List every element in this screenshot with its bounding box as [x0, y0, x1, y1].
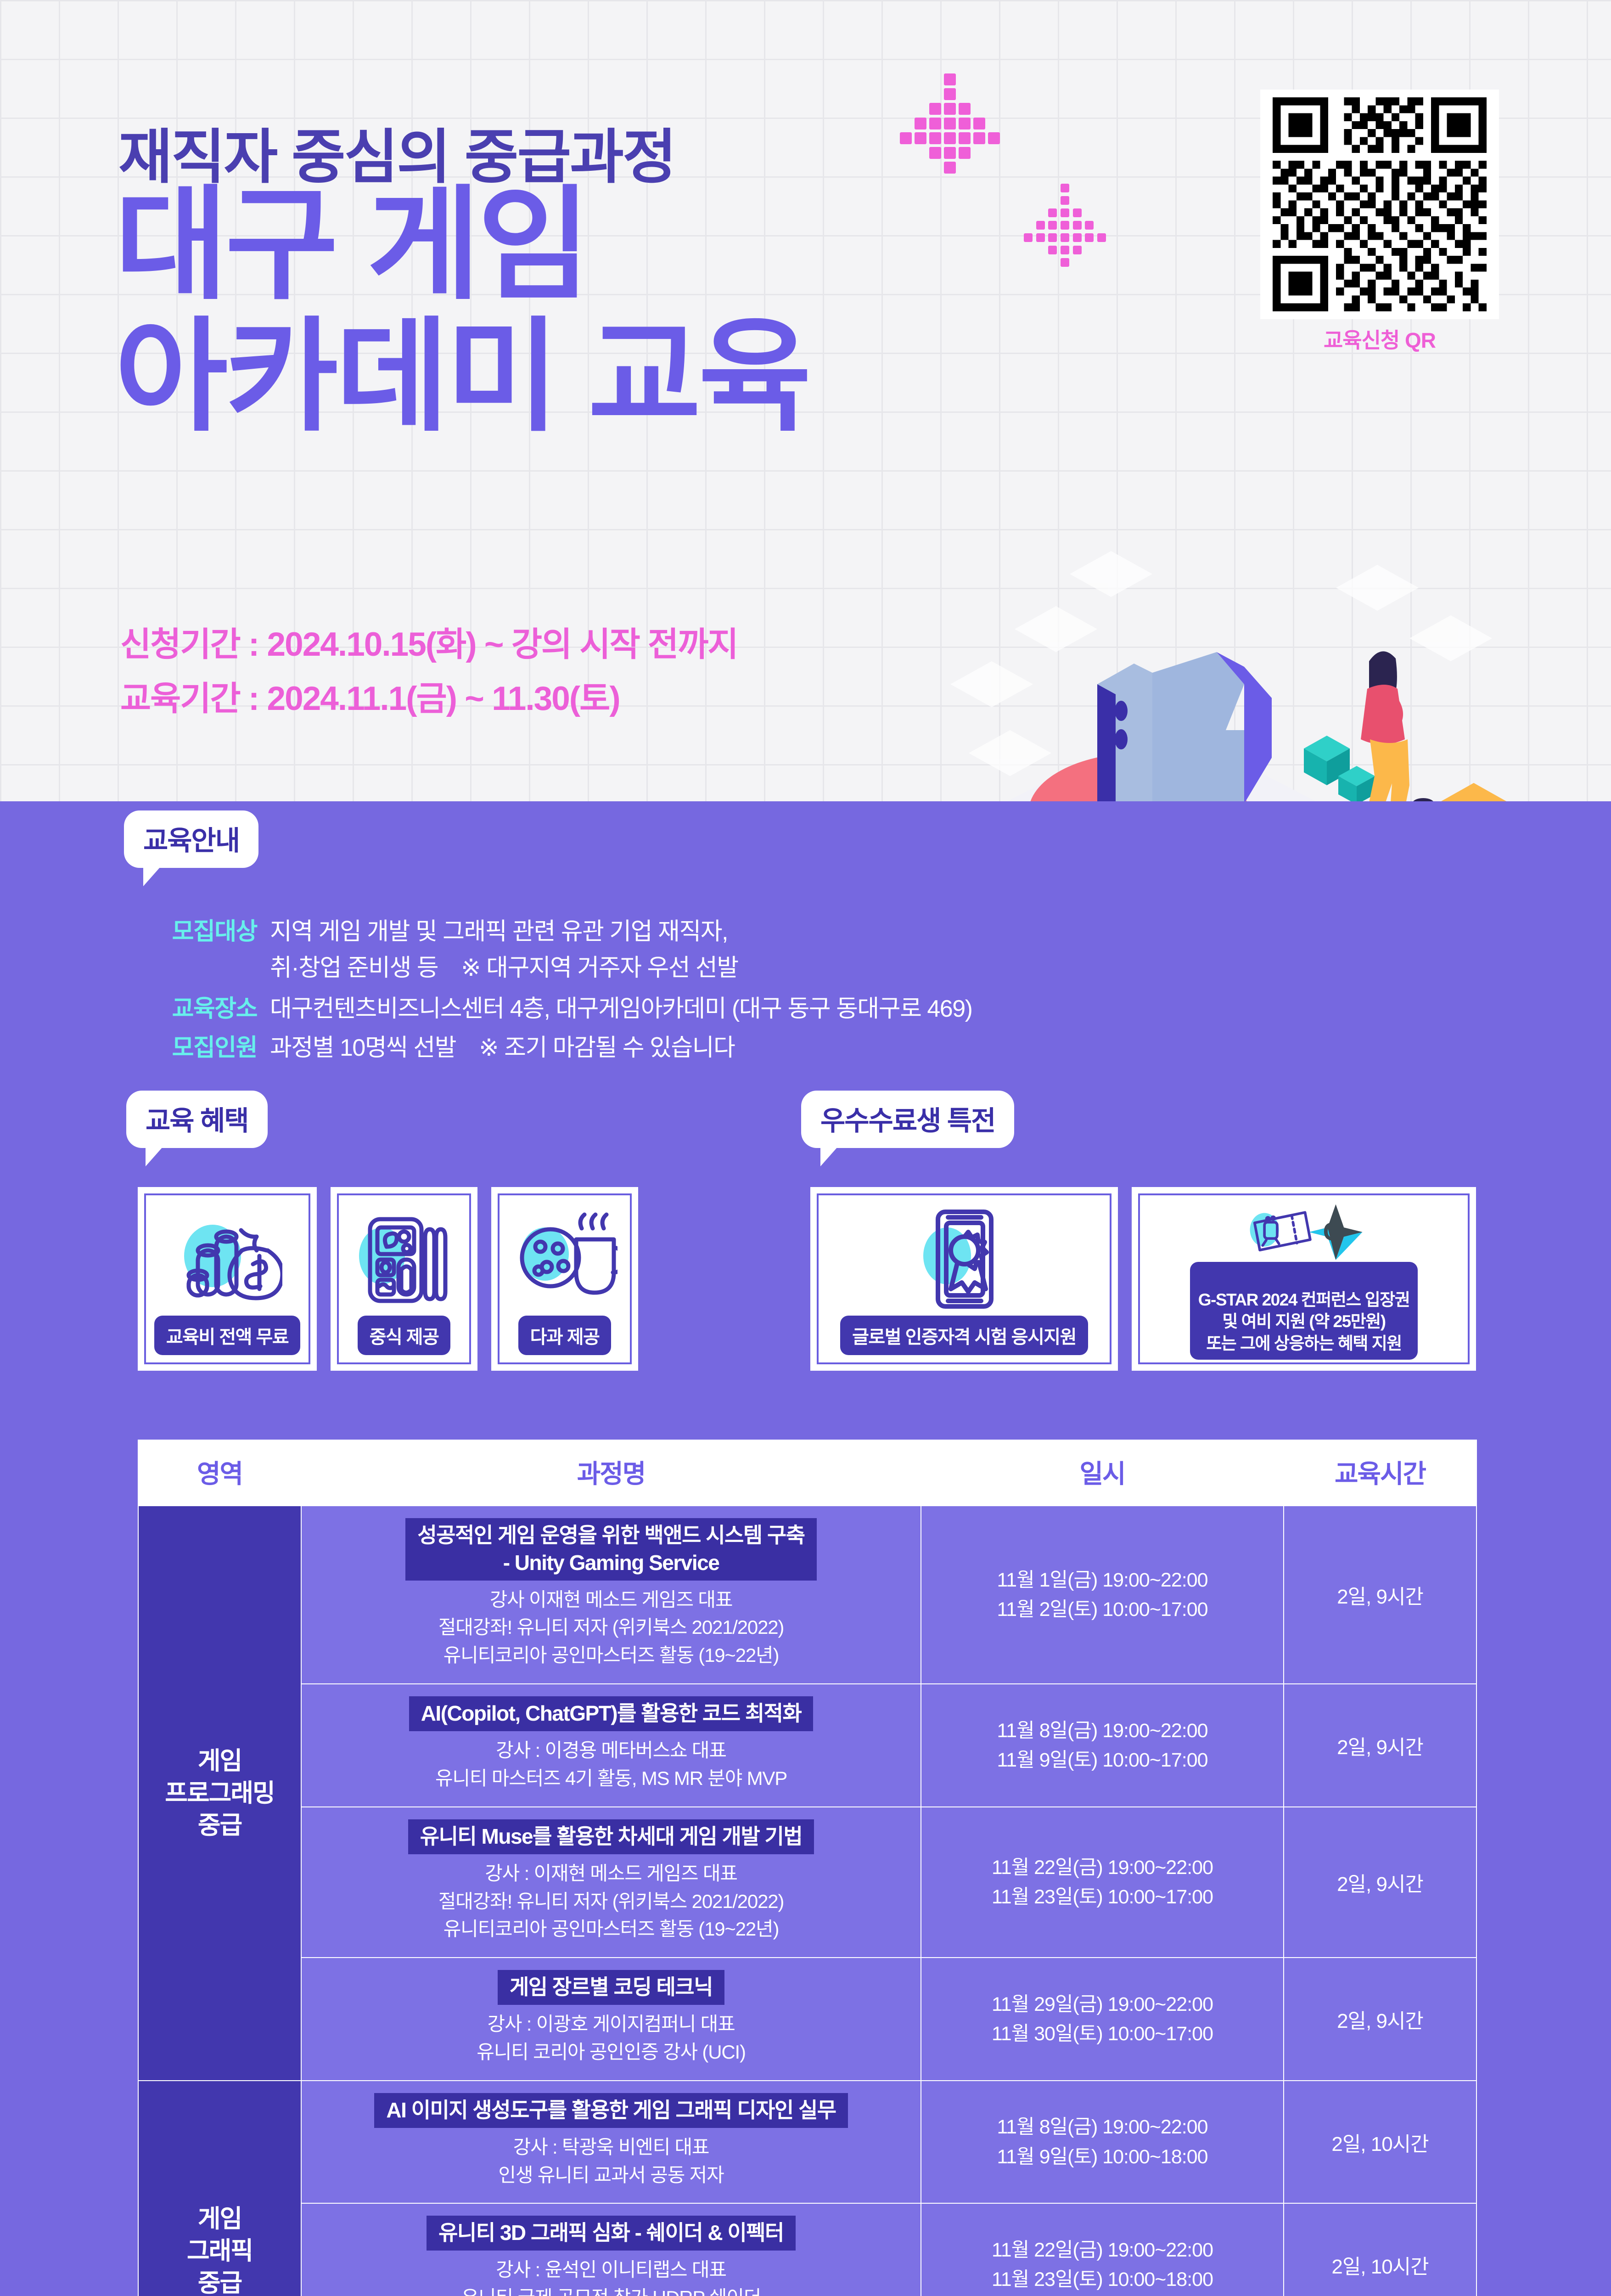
guide-row-value: 대구컨텐츠비즈니스센터 4층, 대구게임아카데미 (대구 동구 동대구로 469… — [270, 991, 972, 1027]
benefit-card-label: 중식 제공 — [358, 1316, 451, 1355]
guide-row-note: ※ 대구지역 거주자 우선 선발 — [461, 955, 738, 981]
guide-row: 모집대상 지역 게임 개발 및 그래픽 관련 유관 기업 재직자, 취·창업 준… — [133, 914, 1373, 986]
dot-plus-decoration-small — [1024, 184, 1111, 271]
benefit-card-refreshments[interactable]: 다과 제공 — [491, 1187, 638, 1371]
benefit-card-label: 교육비 전액 무료 — [154, 1316, 300, 1355]
course-sub: 유니티 코리아 공인인증 강사 (UCI) — [310, 2038, 912, 2066]
apply-period: 신청기간 : 2024.10.15(화) ~ 강의 시작 전까지 — [120, 618, 738, 672]
guide-tag: 교육안내 — [124, 810, 258, 868]
dot-plus-decoration-large — [900, 73, 1005, 179]
table-row: 유니티 Muse를 활용한 차세대 게임 개발 기법 강사 : 이재현 메소드 … — [138, 1807, 1476, 1958]
table-cell-course: AI 이미지 생성도구를 활용한 게임 그래픽 디자인 실무 강사 : 탁광욱 … — [301, 2081, 921, 2204]
table-header-area: 영역 — [138, 1440, 301, 1506]
course-sub: 인생 유니티 교과서 공동 저자 — [310, 2161, 912, 2189]
table-row: 게임 프로그래밍 중급 성공적인 게임 운영을 위한 백앤드 시스템 구축 - … — [138, 1506, 1476, 1684]
period-block: 신청기간 : 2024.10.15(화) ~ 강의 시작 전까지 교육기간 : … — [120, 618, 738, 726]
course-sub: 강사 : 이재현 메소드 게임즈 대표 — [310, 1860, 912, 1888]
course-sub: 절대강좌! 유니티 저자 (위키북스 2021/2022) — [310, 1888, 912, 1916]
special-card-label: 글로벌 인증자격 시험 응시지원 — [840, 1316, 1088, 1355]
table-header-row: 영역 과정명 일시 교육시간 — [138, 1440, 1476, 1506]
money-bag-icon — [172, 1201, 282, 1316]
table-cell-course: 유니티 Muse를 활용한 차세대 게임 개발 기법 강사 : 이재현 메소드 … — [301, 1807, 921, 1958]
table-row: 유니티 3D 그래픽 심화 - 쉐이더 & 이펙터 강사 : 윤석인 이니티랩스… — [138, 2203, 1476, 2296]
special-card-certification[interactable]: 글로벌 인증자격 시험 응시지원 — [810, 1187, 1118, 1371]
course-sub: 강사 : 탁광욱 비엔티 대표 — [310, 2133, 912, 2161]
guide-info-block: 모집대상 지역 게임 개발 및 그래픽 관련 유관 기업 재직자, 취·창업 준… — [133, 914, 1373, 1066]
course-sub: 강사 : 이광호 게이지컴퍼니 대표 — [310, 2010, 912, 2038]
qr-caption: 교육신청 QR — [1260, 324, 1499, 354]
guide-row: 교육장소 대구컨텐츠비즈니스센터 4층, 대구게임아카데미 (대구 동구 동대구… — [133, 991, 1373, 1027]
course-title: AI 이미지 생성도구를 활용한 게임 그래픽 디자인 실무 — [374, 2093, 848, 2128]
benefit-card-tuition[interactable]: 교육비 전액 무료 — [138, 1187, 317, 1371]
course-sub: 강사 : 윤석인 이니티랩스 대표 — [310, 2256, 912, 2284]
course-title: 게임 장르별 코딩 테크닉 — [498, 1970, 724, 2005]
course-title: 유니티 3D 그래픽 심화 - 쉐이더 & 이펙터 — [427, 2216, 796, 2251]
table-header-date: 일시 — [921, 1440, 1284, 1506]
table-cell-date: 11월 8일(금) 19:00~22:00 11월 9일(토) 10:00~17… — [921, 1684, 1284, 1807]
table-cell-course: AI(Copilot, ChatGPT)를 활용한 코드 최적화 강사 : 이경… — [301, 1684, 921, 1807]
certificate-icon — [911, 1201, 1017, 1316]
course-title: 성공적인 게임 운영을 위한 백앤드 시스템 구축 - Unity Gaming… — [405, 1518, 816, 1581]
schedule-table: 영역 과정명 일시 교육시간 게임 프로그래밍 중급 성공적인 게임 운영을 위… — [138, 1440, 1477, 2296]
course-sub: 절대강좌! 유니티 저자 (위키북스 2021/2022) — [310, 1614, 912, 1642]
lunch-box-icon — [354, 1201, 455, 1316]
table-header-course: 과정명 — [301, 1440, 921, 1506]
table-cell-course: 유니티 3D 그래픽 심화 - 쉐이더 & 이펙터 강사 : 윤석인 이니티랩스… — [301, 2203, 921, 2296]
title-line-2: 아카데미 교육 — [115, 311, 809, 443]
poster-header: 재직자 중심의 중급과정 대구 게임 아카데미 교육 신청기간 : 2024.1… — [0, 0, 1611, 801]
guide-row-value-line2: 취·창업 준비생 등※ 대구지역 거주자 우선 선발 — [270, 950, 738, 986]
table-cell-hours: 2일, 9시간 — [1284, 1684, 1476, 1807]
course-sub: 강사 : 이경용 메타버스쇼 대표 — [310, 1737, 912, 1765]
course-title: 유니티 Muse를 활용한 차세대 게임 개발 기법 — [408, 1819, 814, 1854]
guide-row-value: 과정별 10명씩 선발※ 조기 마감될 수 있습니다 — [270, 1030, 735, 1066]
table-cell-date: 11월 8일(금) 19:00~22:00 11월 9일(토) 10:00~18… — [921, 2081, 1284, 2204]
table-cell-hours: 2일, 10시간 — [1284, 2081, 1476, 2204]
cookie-coffee-icon — [512, 1201, 617, 1316]
special-card-label: G-STAR 2024 컨퍼런스 입장권 및 여비 지원 (약 25만원) 또는… — [1190, 1262, 1418, 1360]
course-sub: 유니티 마스터즈 4기 활동, MS MR 분야 MVP — [310, 1765, 912, 1793]
course-title: AI(Copilot, ChatGPT)를 활용한 코드 최적화 — [409, 1696, 814, 1731]
course-sub: 유니티 국제 공모전 참가 HDRP 쉐이더 — [310, 2284, 912, 2296]
qr-code-image[interactable] — [1260, 90, 1499, 319]
table-cell-date: 11월 22일(금) 19:00~22:00 11월 23일(토) 10:00~… — [921, 2203, 1284, 2296]
guide-row-note: ※ 조기 마감될 수 있습니다 — [479, 1035, 735, 1061]
table-cell-hours: 2일, 9시간 — [1284, 1807, 1476, 1958]
table-cell-hours: 2일, 10시간 — [1284, 2203, 1476, 2296]
page-title: 대구 게임 아카데미 교육 — [115, 179, 809, 443]
svg-text:G: G — [1323, 1217, 1343, 1246]
poster-body: 교육안내 모집대상 지역 게임 개발 및 그래픽 관련 유관 기업 재직자, 취… — [0, 801, 1611, 2296]
guide-row-key: 모집인원 — [133, 1030, 257, 1066]
benefits-tag: 교육 혜택 — [126, 1091, 268, 1148]
table-cell-area: 게임 그래픽 중급 — [138, 2081, 301, 2296]
title-line-1: 대구 게임 — [115, 176, 588, 314]
table-row: 게임 그래픽 중급 AI 이미지 생성도구를 활용한 게임 그래픽 디자인 실무… — [138, 2081, 1476, 2204]
qr-section: 교육신청 QR — [1260, 90, 1499, 354]
table-cell-course: 게임 장르별 코딩 테크닉 강사 : 이광호 게이지컴퍼니 대표 유니티 코리아… — [301, 1958, 921, 2081]
edu-period: 교육기간 : 2024.11.1(금) ~ 11.30(토) — [120, 672, 738, 726]
special-tag: 우수수료생 특전 — [801, 1091, 1014, 1148]
table-header-hours: 교육시간 — [1284, 1440, 1476, 1506]
table-cell-area: 게임 프로그래밍 중급 — [138, 1506, 301, 2081]
guide-row-value-line1: 지역 게임 개발 및 그래픽 관련 유관 기업 재직자, — [270, 918, 728, 945]
guide-row: 모집인원 과정별 10명씩 선발※ 조기 마감될 수 있습니다 — [133, 1030, 1373, 1066]
table-cell-hours: 2일, 9시간 — [1284, 1506, 1476, 1684]
benefit-card-lunch[interactable]: 중식 제공 — [331, 1187, 477, 1371]
table-cell-date: 11월 1일(금) 19:00~22:00 11월 2일(토) 10:00~17… — [921, 1506, 1284, 1684]
table-cell-hours: 2일, 9시간 — [1284, 1958, 1476, 2081]
special-card-gstar[interactable]: G G-STAR 2024 컨퍼런스 입장권 및 여비 지원 (약 25만원) … — [1132, 1187, 1476, 1371]
table-cell-course: 성공적인 게임 운영을 위한 백앤드 시스템 구축 - Unity Gaming… — [301, 1506, 921, 1684]
guide-row-value: 지역 게임 개발 및 그래픽 관련 유관 기업 재직자, 취·창업 준비생 등※… — [270, 914, 738, 986]
gstar-ticket-icon: G — [1207, 1201, 1400, 1262]
hero-illustration — [923, 546, 1520, 801]
table-cell-date: 11월 22일(금) 19:00~22:00 11월 23일(토) 10:00~… — [921, 1807, 1284, 1958]
benefit-card-label: 다과 제공 — [518, 1316, 612, 1355]
guide-row-key: 교육장소 — [133, 991, 257, 1027]
guide-row-key: 모집대상 — [133, 914, 257, 950]
course-sub: 강사 이재현 메소드 게임즈 대표 — [310, 1586, 912, 1614]
course-sub: 유니티코리아 공인마스터즈 활동 (19~22년) — [310, 1642, 912, 1670]
table-row: 게임 장르별 코딩 테크닉 강사 : 이광호 게이지컴퍼니 대표 유니티 코리아… — [138, 1958, 1476, 2081]
table-row: AI(Copilot, ChatGPT)를 활용한 코드 최적화 강사 : 이경… — [138, 1684, 1476, 1807]
table-cell-date: 11월 29일(금) 19:00~22:00 11월 30일(토) 10:00~… — [921, 1958, 1284, 2081]
course-sub: 유니티코리아 공인마스터즈 활동 (19~22년) — [310, 1915, 912, 1943]
